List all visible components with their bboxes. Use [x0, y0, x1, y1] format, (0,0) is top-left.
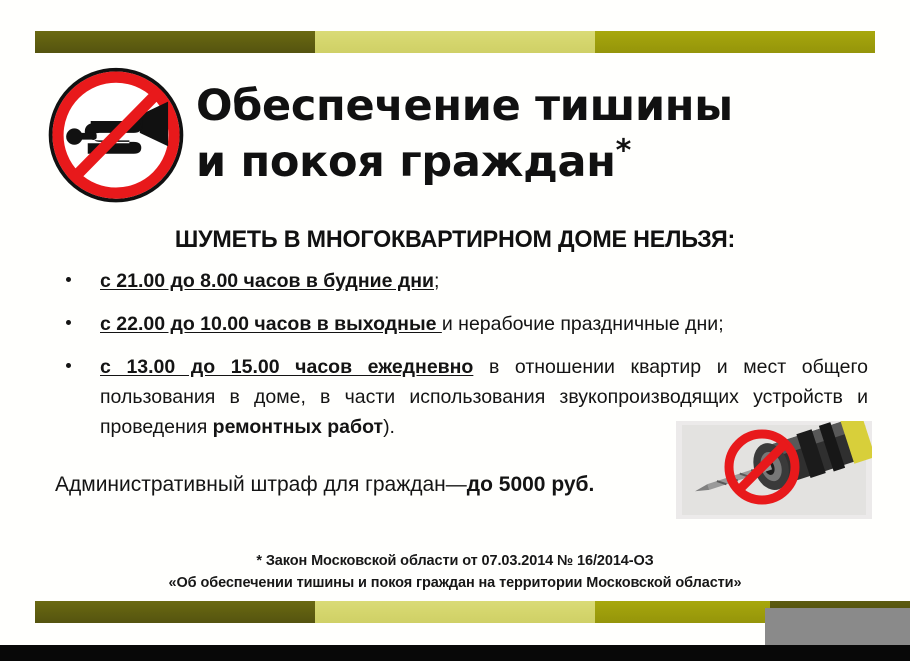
list-item: с 21.00 до 8.00 часов в будние дни;	[58, 266, 868, 296]
list-item: с 22.00 до 10.00 часов в выходные и нера…	[58, 309, 868, 339]
top-bar-segment-dark-olive	[35, 31, 315, 53]
title-asterisk: *	[616, 134, 631, 169]
bullet-dot-icon	[66, 277, 71, 282]
headline-text: ШУМЕТЬ В МНОГОКВАРТИРНОМ ДОМЕ НЕЛЬЗЯ:	[23, 226, 888, 254]
footnote: * Закон Московской области от 07.03.2014…	[0, 551, 910, 594]
title-line-1: Обеспечение тишины	[196, 78, 896, 134]
bottom-black-strip	[0, 645, 910, 661]
bullet-dot-icon	[66, 363, 71, 368]
list-item-tail-rest: ).	[383, 416, 395, 438]
list-item-emphasis: с 21.00 до 8.00 часов в будние дни	[100, 270, 434, 292]
gray-overlay-rectangle	[765, 608, 910, 645]
list-item-rest: и нерабочие праздничные дни;	[442, 313, 724, 335]
top-decorative-bar	[35, 31, 875, 53]
bottom-bar-segment-mid-olive	[595, 601, 770, 623]
list-item-text: с 22.00 до 10.00 часов в выходные и нера…	[100, 309, 868, 339]
bottom-bar-segment-dark-olive	[35, 601, 315, 623]
list-item-rest: ;	[434, 270, 439, 292]
top-bar-segment-mid-olive	[595, 31, 875, 53]
title-line-2: и покоя граждан*	[196, 134, 896, 190]
list-item-tail-bold: ремонтных работ	[213, 416, 383, 438]
presentation-slide: Обеспечение тишины и покоя граждан* ШУМЕ…	[0, 0, 910, 661]
list-item-emphasis: с 13.00 до 15.00 часов ежедневно	[100, 356, 473, 378]
footnote-line-1: * Закон Московской области от 07.03.2014…	[0, 551, 910, 572]
footnote-line-2: «Об обеспечении тишины и покоя граждан н…	[0, 572, 910, 594]
bottom-bar-segment-light-olive	[315, 601, 595, 623]
title-line-2-text: и покоя граждан	[196, 137, 616, 187]
fine-prefix: Административный штраф для граждан—	[55, 473, 467, 496]
administrative-fine-text: Административный штраф для граждан—до 50…	[55, 470, 594, 500]
no-horn-prohibition-sign-icon	[40, 63, 192, 208]
fine-amount: до 5000 руб.	[467, 473, 595, 496]
slide-title: Обеспечение тишины и покоя граждан*	[196, 78, 896, 190]
bullet-dot-icon	[66, 320, 71, 325]
drill-with-prohibition-sign-photo	[676, 421, 872, 519]
list-item-text: с 21.00 до 8.00 часов в будние дни;	[100, 266, 868, 296]
top-bar-segment-light-olive	[315, 31, 595, 53]
list-item-emphasis: с 22.00 до 10.00 часов в выходные	[100, 313, 442, 335]
